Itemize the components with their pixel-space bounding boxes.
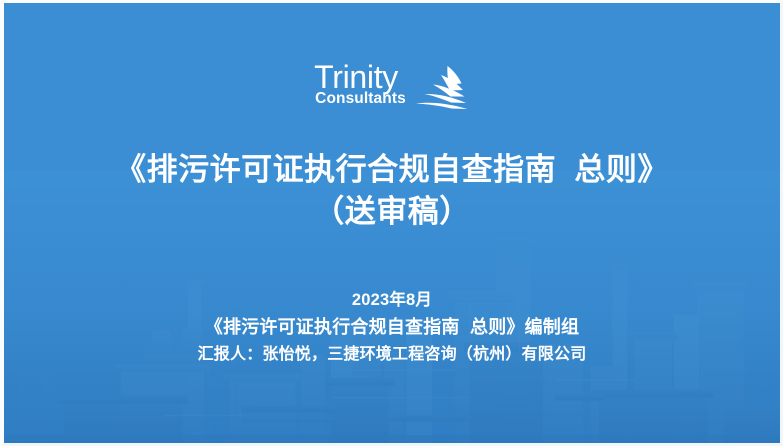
logo-secondary-text: Consultants	[315, 91, 406, 107]
authoring-group: 《排污许可证执行合规自查指南 总则》编制组	[4, 314, 780, 341]
fan-pages-icon	[408, 64, 470, 110]
slide-title-line-1: 《排污许可证执行合规自查指南 总则》	[4, 149, 780, 191]
slide-title-line-2: （送审稿）	[4, 191, 780, 233]
logo-inner: Trinity Consultants	[314, 61, 470, 110]
presenter-line: 汇报人：张怡悦，三捷环境工程咨询（杭州）有限公司	[4, 341, 780, 368]
brand-logo: Trinity Consultants	[4, 61, 780, 110]
slide-title-block: 《排污许可证执行合规自查指南 总则》 （送审稿）	[4, 149, 780, 233]
slide-meta-block: 2023年8月 《排污许可证执行合规自查指南 总则》编制组 汇报人：张怡悦，三捷…	[4, 287, 780, 368]
presentation-date: 2023年8月	[4, 287, 780, 314]
logo-wordmark: Trinity Consultants	[314, 61, 406, 107]
title-slide: Trinity Consultants 《排污许可证执行合规自查指南 总则》 （…	[0, 0, 783, 446]
logo-primary-text: Trinity	[314, 61, 406, 93]
